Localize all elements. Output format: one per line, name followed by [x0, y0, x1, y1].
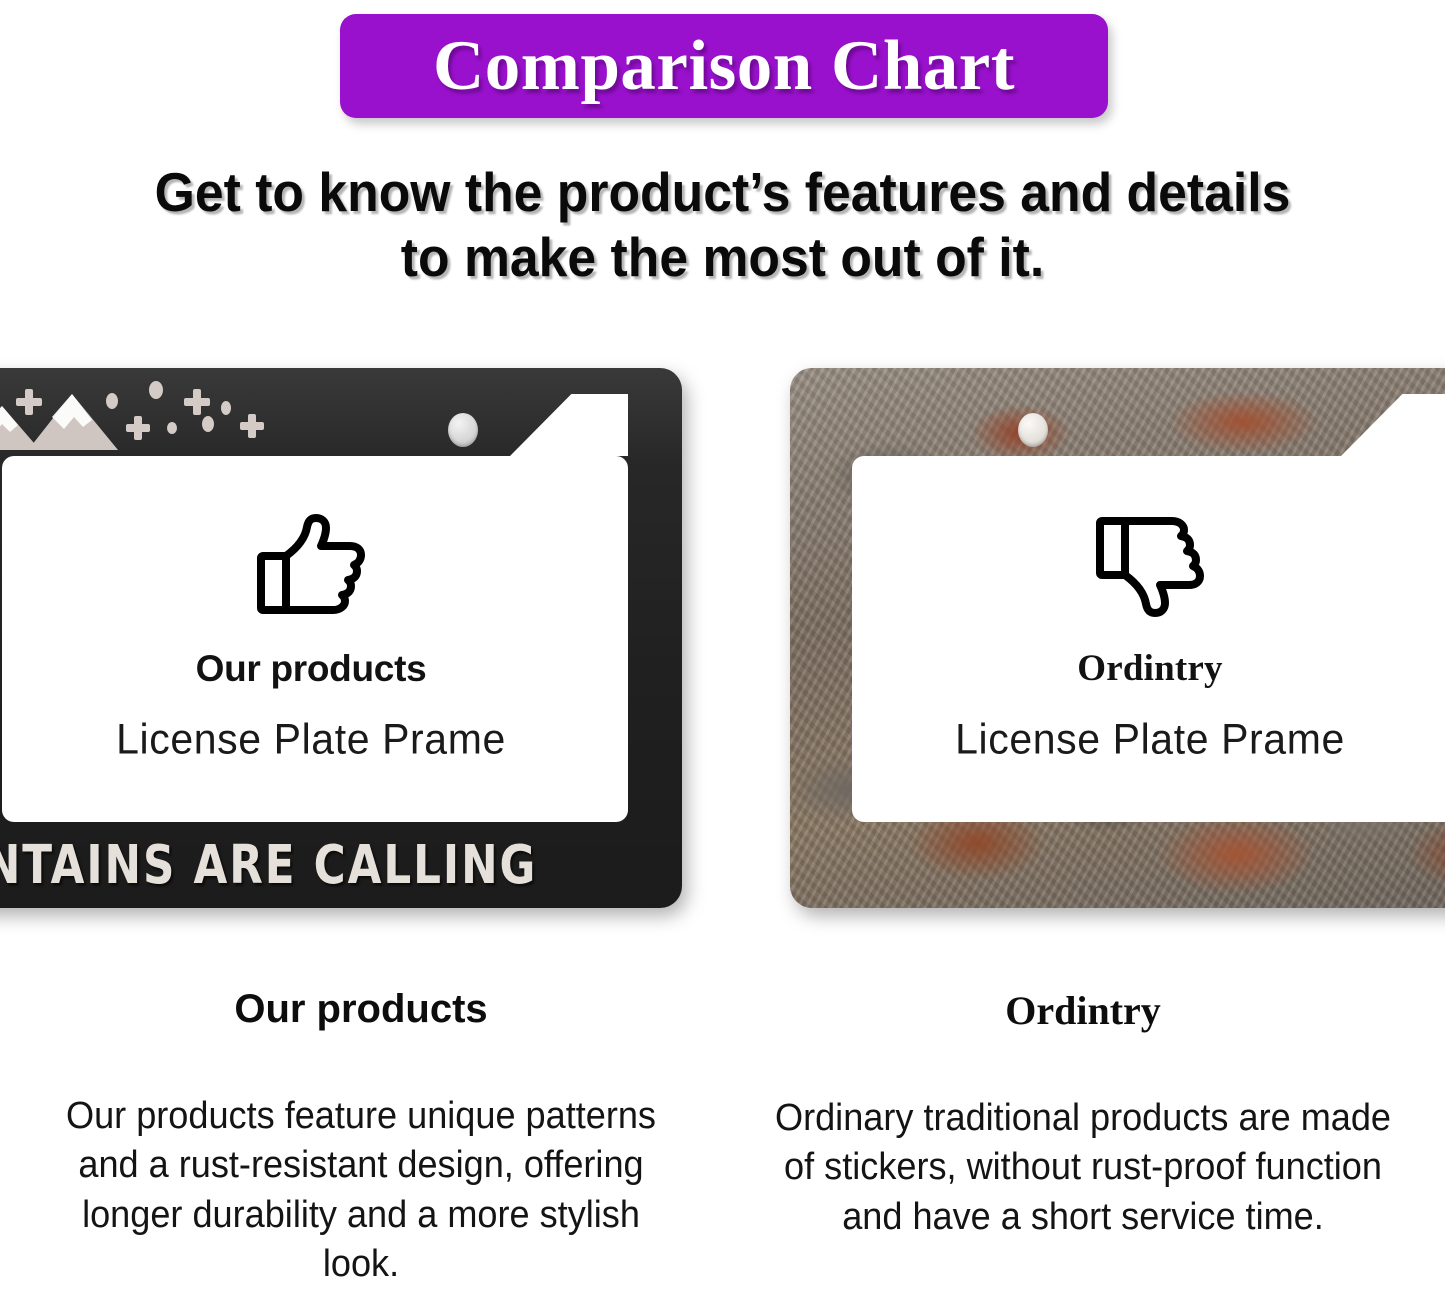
subheading-text: Get to know the product’s features and d… [147, 160, 1299, 290]
ordinary-product-product-label: License Plate Prame [955, 715, 1345, 764]
our-product-product-label: License Plate Prame [116, 715, 506, 764]
ordinary-product-plate-content: Ordintry License Plate Prame [790, 368, 1445, 908]
ordinary-product-brand-label: Ordintry [1077, 647, 1222, 690]
our-product-brand-label: Our products [196, 648, 427, 690]
thumbs-up-icon [253, 514, 369, 618]
thumbs-down-icon [1092, 513, 1208, 617]
our-product-column-body: Our products feature unique patterns and… [43, 1092, 680, 1290]
our-product-column: Our products Our products feature unique… [0, 975, 722, 1314]
ordinary-product-column: Ordintry Ordinary traditional products a… [722, 975, 1444, 1314]
comparison-chart-page: Comparison Chart Get to know the product… [0, 0, 1445, 1314]
product-frames-row: NTAINS ARE CALLING Our products License … [0, 368, 1445, 913]
title-banner: Comparison Chart [340, 14, 1108, 118]
our-product-column-heading: Our products [234, 987, 487, 1032]
comparison-columns: Our products Our products feature unique… [0, 975, 1445, 1314]
ordinary-product-plate-frame: Ordintry License Plate Prame [790, 368, 1445, 908]
our-product-plate-frame: NTAINS ARE CALLING Our products License … [0, 368, 682, 908]
ordinary-product-column-body: Ordinary traditional products are made o… [765, 1094, 1402, 1242]
our-product-plate-content: Our products License Plate Prame [0, 368, 682, 908]
page-title: Comparison Chart [433, 26, 1015, 107]
ordinary-product-column-heading: Ordintry [1005, 987, 1161, 1034]
